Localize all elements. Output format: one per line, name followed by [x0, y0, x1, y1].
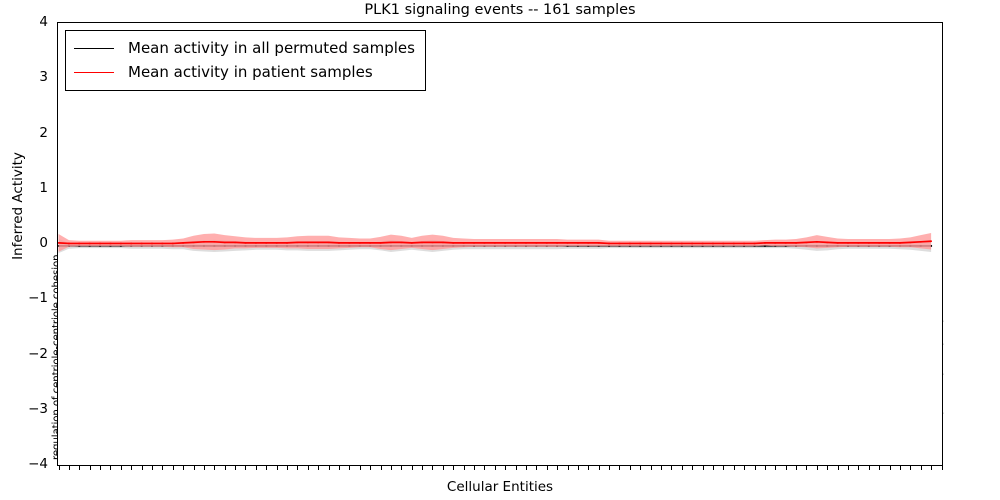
x-tick-mark	[329, 466, 330, 470]
data-point	[255, 242, 257, 244]
x-tick-mark	[360, 466, 361, 470]
data-point	[650, 243, 652, 245]
x-tick-mark	[703, 466, 704, 470]
x-tick-mark	[588, 466, 589, 470]
data-point	[89, 243, 91, 245]
data-point	[452, 242, 454, 244]
legend-entry: Mean activity in all permuted samples	[74, 36, 415, 60]
legend-entry: Mean activity in patient samples	[74, 60, 415, 84]
data-point	[369, 242, 371, 244]
data-point	[307, 242, 309, 244]
x-tick-mark	[806, 466, 807, 470]
x-tick-mark	[214, 466, 215, 470]
data-point	[214, 241, 216, 243]
y-tick-label: −2	[0, 346, 48, 362]
data-point	[224, 242, 226, 244]
data-point	[723, 243, 725, 245]
data-point	[878, 242, 880, 244]
x-tick-mark	[121, 466, 122, 470]
data-point	[868, 242, 870, 244]
data-point	[691, 243, 693, 245]
data-point	[712, 243, 714, 245]
x-tick-mark	[370, 466, 371, 470]
data-point	[110, 243, 112, 245]
data-point	[234, 242, 236, 244]
x-axis-label: Cellular Entities	[57, 479, 943, 495]
data-point	[494, 242, 496, 244]
data-point	[795, 242, 797, 244]
data-point	[577, 242, 579, 244]
data-point	[151, 243, 153, 245]
x-tick-mark	[817, 466, 818, 470]
legend-line-swatch	[74, 72, 114, 73]
data-point	[203, 241, 205, 243]
data-point	[837, 242, 839, 244]
data-point	[162, 243, 164, 245]
data-point	[349, 242, 351, 244]
x-tick-mark	[152, 466, 153, 470]
x-tick-mark	[921, 466, 922, 470]
data-point	[536, 242, 538, 244]
x-tick-mark	[568, 466, 569, 470]
x-tick-mark	[183, 466, 184, 470]
x-tick-mark	[443, 466, 444, 470]
x-tick-mark	[723, 466, 724, 470]
x-tick-mark	[838, 466, 839, 470]
data-point	[826, 242, 828, 244]
x-tick-mark	[682, 466, 683, 470]
data-point	[546, 242, 548, 244]
x-tick-mark	[765, 466, 766, 470]
data-point	[920, 241, 922, 243]
data-point	[504, 242, 506, 244]
data-point	[432, 242, 434, 244]
x-tick-mark	[110, 466, 111, 470]
x-tick-mark	[505, 466, 506, 470]
x-tick-mark	[775, 466, 776, 470]
x-tick-mark	[869, 466, 870, 470]
data-point	[899, 242, 901, 244]
x-tick-mark	[942, 466, 943, 470]
legend-line-swatch	[74, 48, 114, 49]
data-point	[556, 242, 558, 244]
x-tick-mark	[848, 466, 849, 470]
x-tick-mark	[651, 466, 652, 470]
data-point	[401, 242, 403, 244]
x-tick-mark	[69, 466, 70, 470]
data-point	[338, 242, 340, 244]
x-tick-mark	[640, 466, 641, 470]
x-tick-mark	[557, 466, 558, 470]
x-tick-mark	[786, 466, 787, 470]
data-point	[598, 242, 600, 244]
x-tick-mark	[495, 466, 496, 470]
x-tick-mark	[547, 466, 548, 470]
x-tick-mark	[578, 466, 579, 470]
x-tick-mark	[599, 466, 600, 470]
data-point	[588, 242, 590, 244]
data-point	[317, 242, 319, 244]
x-tick-mark	[484, 466, 485, 470]
x-tick-mark	[162, 466, 163, 470]
x-tick-mark	[931, 466, 932, 470]
x-tick-mark	[526, 466, 527, 470]
x-tick-mark	[796, 466, 797, 470]
legend-label: Mean activity in all permuted samples	[128, 39, 415, 57]
x-tick-mark	[90, 466, 91, 470]
data-point	[328, 242, 330, 244]
y-tick-label: 3	[0, 69, 48, 85]
data-point	[754, 243, 756, 245]
data-point	[130, 243, 132, 245]
x-tick-mark	[79, 466, 80, 470]
data-point	[619, 243, 621, 245]
data-point	[608, 243, 610, 245]
data-point	[858, 242, 860, 244]
data-point	[245, 242, 247, 244]
x-tick-mark	[339, 466, 340, 470]
data-point	[847, 242, 849, 244]
x-tick-mark	[713, 466, 714, 470]
data-point	[639, 243, 641, 245]
x-tick-mark	[630, 466, 631, 470]
x-tick-mark	[287, 466, 288, 470]
data-point	[733, 243, 735, 245]
data-point	[58, 242, 59, 244]
data-point	[297, 242, 299, 244]
x-tick-mark	[225, 466, 226, 470]
data-point	[120, 243, 122, 245]
data-point	[671, 243, 673, 245]
data-point	[930, 240, 932, 242]
data-point	[764, 242, 766, 244]
data-point	[390, 242, 392, 244]
x-tick-mark	[277, 466, 278, 470]
data-point	[484, 242, 486, 244]
x-tick-mark	[204, 466, 205, 470]
x-tick-mark	[194, 466, 195, 470]
x-tick-mark	[256, 466, 257, 470]
x-tick-mark	[131, 466, 132, 470]
x-tick-mark	[318, 466, 319, 470]
data-point	[702, 243, 704, 245]
x-tick-mark	[879, 466, 880, 470]
data-point	[785, 242, 787, 244]
x-tick-mark	[671, 466, 672, 470]
x-tick-mark	[266, 466, 267, 470]
y-tick-label: 1	[0, 180, 48, 196]
x-tick-mark	[890, 466, 891, 470]
x-tick-mark	[432, 466, 433, 470]
x-tick-mark	[349, 466, 350, 470]
data-point	[68, 243, 70, 245]
data-point	[681, 243, 683, 245]
x-tick-mark	[401, 466, 402, 470]
x-tick-mark	[422, 466, 423, 470]
data-point	[473, 242, 475, 244]
data-point	[515, 242, 517, 244]
y-tick-label: −3	[0, 401, 48, 417]
data-point	[567, 242, 569, 244]
x-tick-mark	[755, 466, 756, 470]
data-point	[910, 242, 912, 244]
data-point	[660, 243, 662, 245]
x-tick-mark	[59, 466, 60, 470]
data-point	[889, 242, 891, 244]
x-tick-mark	[858, 466, 859, 470]
data-point	[421, 242, 423, 244]
x-tick-mark	[464, 466, 465, 470]
x-tick-mark	[412, 466, 413, 470]
data-point	[286, 242, 288, 244]
data-point	[265, 242, 267, 244]
data-point	[380, 242, 382, 244]
x-tick-mark	[391, 466, 392, 470]
x-tick-mark	[453, 466, 454, 470]
data-point	[276, 242, 278, 244]
data-point	[78, 243, 80, 245]
data-point	[442, 242, 444, 244]
y-tick-label: 2	[0, 125, 48, 141]
data-point	[806, 242, 808, 244]
data-point	[463, 242, 465, 244]
data-point	[359, 242, 361, 244]
x-tick-mark	[661, 466, 662, 470]
data-point	[774, 242, 776, 244]
x-tick-mark	[734, 466, 735, 470]
x-tick-mark	[516, 466, 517, 470]
x-tick-mark	[474, 466, 475, 470]
x-tick-mark	[100, 466, 101, 470]
x-tick-mark	[692, 466, 693, 470]
data-point	[141, 243, 143, 245]
x-tick-mark	[381, 466, 382, 470]
x-tick-mark	[900, 466, 901, 470]
data-point	[629, 243, 631, 245]
y-tick-label: 4	[0, 14, 48, 30]
chart-figure: PLK1 signaling events -- 161 samples Inf…	[0, 0, 1000, 500]
x-tick-mark	[245, 466, 246, 470]
x-tick-mark	[235, 466, 236, 470]
x-tick-mark	[173, 466, 174, 470]
x-tick-mark	[609, 466, 610, 470]
x-tick-mark	[744, 466, 745, 470]
x-tick-mark	[536, 466, 537, 470]
data-point	[525, 242, 527, 244]
y-tick-label: 0	[0, 235, 48, 251]
data-point	[99, 243, 101, 245]
x-tick-mark	[827, 466, 828, 470]
data-point	[411, 242, 413, 244]
x-tick-mark	[297, 466, 298, 470]
x-tick-mark	[619, 466, 620, 470]
chart-title: PLK1 signaling events -- 161 samples	[57, 2, 943, 18]
data-point	[182, 242, 184, 244]
y-tick-label: −1	[0, 290, 48, 306]
data-point	[816, 241, 818, 243]
data-point	[193, 242, 195, 244]
x-tick-mark	[308, 466, 309, 470]
data-point	[172, 243, 174, 245]
legend-label: Mean activity in patient samples	[128, 63, 373, 81]
data-point	[743, 243, 745, 245]
x-tick-mark	[910, 466, 911, 470]
y-tick-label: −4	[0, 456, 48, 472]
x-tick-mark	[142, 466, 143, 470]
chart-legend: Mean activity in all permuted samplesMea…	[65, 30, 426, 91]
